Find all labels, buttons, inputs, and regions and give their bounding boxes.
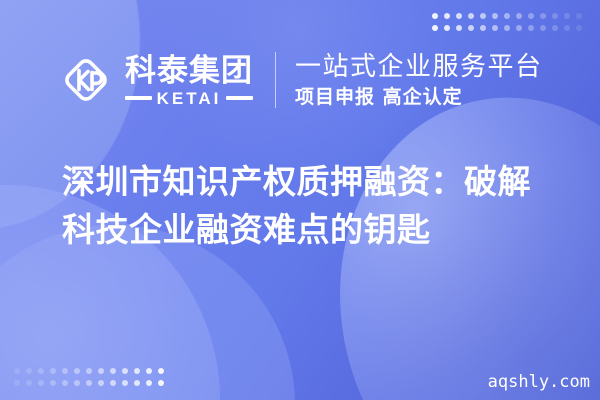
decor-dot (564, 13, 570, 19)
decor-dot (50, 368, 56, 374)
page-title: 深圳市知识产权质押融资：破解科技企业融资难点的钥匙 (62, 158, 542, 254)
decor-dot (26, 380, 32, 386)
decor-dot (576, 25, 582, 31)
decor-dot (26, 368, 32, 374)
decor-dot (74, 380, 80, 386)
decor-dot (110, 380, 116, 386)
decor-dot (38, 380, 44, 386)
decor-dot (432, 13, 438, 19)
decor-dot (50, 380, 56, 386)
slogan-sub: 项目申报 高企认定 (295, 84, 543, 110)
decor-dot (98, 380, 104, 386)
brand-wordmark: 科泰集团 KETAI (125, 55, 253, 107)
decor-dot (540, 13, 546, 19)
decor-dot (110, 368, 116, 374)
decor-dot (552, 25, 558, 31)
decor-dot (122, 380, 128, 386)
decor-dot (14, 380, 20, 386)
decor-dot (62, 380, 68, 386)
decor-dot (122, 368, 128, 374)
decor-dot (456, 13, 462, 19)
decor-dot (86, 380, 92, 386)
wordmark-rule-left (125, 96, 152, 100)
dot-grid-icon-bottom-left (14, 368, 164, 386)
decor-dot (146, 380, 152, 386)
vertical-divider (275, 52, 276, 108)
brand-name-en: KETAI (157, 90, 222, 107)
decor-dot (444, 25, 450, 31)
decor-dot (504, 13, 510, 19)
decor-dot (14, 368, 20, 374)
decor-dot (468, 13, 474, 19)
wordmark-rule-right (226, 96, 253, 100)
decor-dot (432, 25, 438, 31)
decor-dot (98, 368, 104, 374)
decor-dot (158, 368, 164, 374)
decor-dot (74, 368, 80, 374)
decor-dot (146, 368, 152, 374)
brand-logo[interactable]: 科泰集团 KETAI (58, 52, 253, 108)
brand-name-en-row: KETAI (125, 90, 253, 107)
banner-header: 科泰集团 KETAI 一站式企业服务平台 项目申报 高企认定 (0, 44, 600, 116)
decor-dot (158, 380, 164, 386)
slogan-block: 一站式企业服务平台 项目申报 高企认定 (295, 51, 543, 110)
decor-dot (444, 13, 450, 19)
promo-banner: 科泰集团 KETAI 一站式企业服务平台 项目申报 高企认定 深圳市知识产权质押… (0, 0, 600, 400)
decor-dot (492, 25, 498, 31)
decor-dot (564, 25, 570, 31)
decor-dot (576, 13, 582, 19)
decor-dot (468, 25, 474, 31)
ketai-kp-diamond-logo-icon (58, 52, 114, 108)
decor-dot (552, 13, 558, 19)
decor-dot (492, 13, 498, 19)
decor-dot (480, 25, 486, 31)
slogan-main: 一站式企业服务平台 (295, 51, 543, 83)
decor-dot (504, 25, 510, 31)
decor-dot (134, 380, 140, 386)
decor-dot (38, 368, 44, 374)
brand-name-cn: 科泰集团 (125, 55, 253, 88)
dot-grid-icon-top-right (432, 13, 582, 31)
decor-dot (480, 13, 486, 19)
decor-dot (516, 13, 522, 19)
decor-dot (540, 25, 546, 31)
decor-dot (86, 368, 92, 374)
decor-dot (528, 13, 534, 19)
decor-dot (528, 25, 534, 31)
decor-dot (516, 25, 522, 31)
decor-dot (134, 368, 140, 374)
site-watermark: aqshly.com (488, 372, 590, 392)
decor-dot (456, 25, 462, 31)
decor-dot (62, 368, 68, 374)
